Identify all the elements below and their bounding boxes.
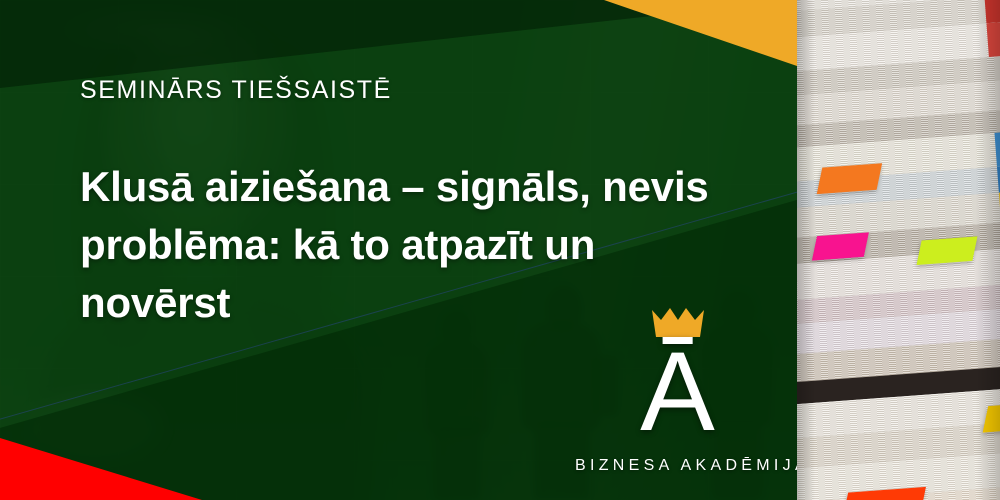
book-stack-group (797, 0, 1000, 500)
kicker-label: SEMINĀRS TIEŠSAISTĒ (80, 78, 392, 103)
book-stack-photo (797, 0, 1000, 500)
sticky-note-tab (817, 163, 882, 194)
logo-letter: Ā (575, 340, 780, 443)
sticky-note-tab (812, 232, 869, 260)
logo-wordmark: BIZNESA AKADĒMIJA (575, 457, 780, 475)
headline-line-1: Klusā aiziešana – signāls, nevis (80, 158, 740, 216)
seminar-promo-banner: SEMINĀRS TIEŠSAISTĒ Klusā aiziešana – si… (0, 0, 1000, 500)
sticky-note-tab (917, 236, 978, 265)
green-panel: SEMINĀRS TIEŠSAISTĒ Klusā aiziešana – si… (0, 0, 797, 500)
brand-logo: Ā BIZNESA AKADĒMIJA (575, 306, 780, 475)
